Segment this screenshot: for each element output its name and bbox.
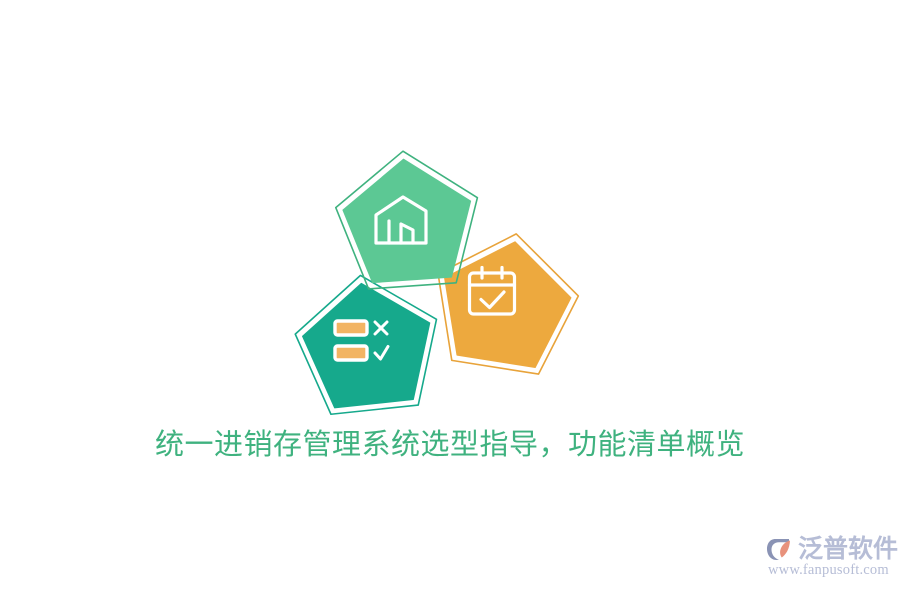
page-title: 统一进销存管理系统选型指导，功能清单概览 [0,425,900,465]
pentagon-cluster-graphic [285,150,575,410]
fanpu-logo-mark-icon [766,534,796,564]
watermark-logo: 泛普软件 www.fanpusoft.com [766,533,894,585]
watermark-url: www.fanpusoft.com [768,562,894,579]
watermark-brand-name: 泛普软件 [798,534,898,564]
page-canvas: 统一进销存管理系统选型指导，功能清单概览 泛普软件 www.fanpusoft.… [0,0,900,600]
pentagon-warehouse [328,143,488,303]
watermark-brand-row: 泛普软件 [766,533,894,565]
